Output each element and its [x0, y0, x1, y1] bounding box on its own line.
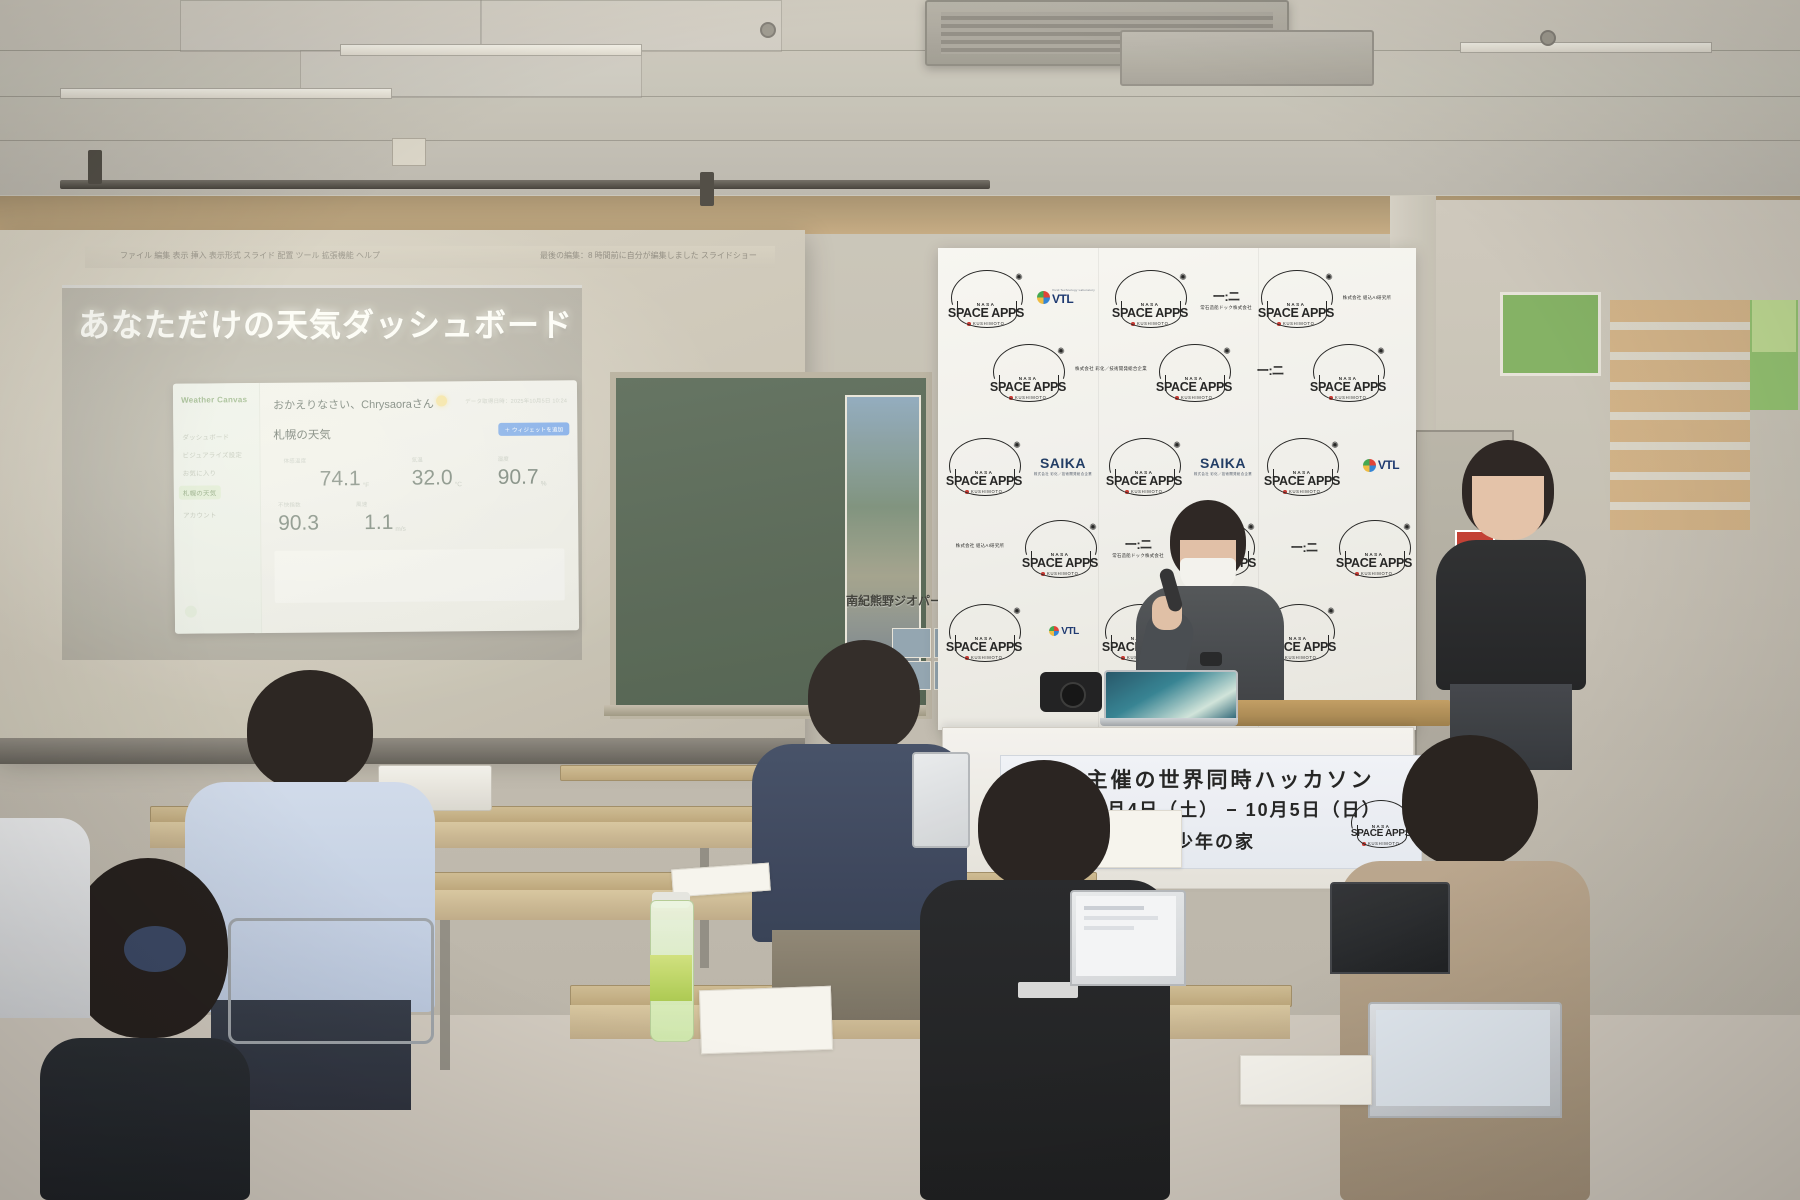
sun-icon — [436, 395, 447, 406]
sponsor-name: VTL — [1052, 292, 1095, 306]
sponsor-logo-tsuneishi: ー:ニ — [1234, 352, 1306, 386]
vtl-blob-icon — [1363, 459, 1376, 472]
sponsor-name: VTL — [1378, 458, 1399, 472]
attendee-head — [808, 640, 920, 752]
metric-value: 74.1 — [320, 468, 361, 489]
space-apps-logo: ✺ NASA SPACE APPS KUSHIMOTO — [1102, 434, 1186, 496]
vtl-blob-icon — [1037, 291, 1050, 304]
metric-card: 体感温度 74.1 °F — [284, 456, 370, 490]
attendee-torso — [40, 1038, 250, 1200]
space-apps-logo: ✺ NASA SPACE APPS KUSHIMOTO — [1332, 516, 1416, 578]
sponsor-logo-kumikomi-ai: 株式会社 組込AI研究所 — [944, 526, 1016, 566]
greeting-text: おかえりなさい、Chrysaoraさん — [273, 395, 434, 412]
sponsor-sub: 株式会社 彩化／技術開発総合企業 — [1194, 471, 1252, 476]
presentation-room-photo: 消火器 ファイル 編集 表示 挿入 表示形式 スライド 配置 ツール 拡張機能 … — [0, 0, 1800, 1200]
sponsor-name: ー:ニ — [1290, 537, 1317, 556]
sidebar-item-visualize[interactable]: ビジュアライズ設定 — [182, 449, 242, 460]
sprinkler-head — [760, 22, 776, 38]
space-apps-logo: ✺ NASA SPACE APPS KUSHIMOTO — [1152, 340, 1236, 402]
notebook-page[interactable] — [699, 986, 833, 1055]
widget-placeholder — [274, 548, 564, 603]
sponsor-name: ー:ニ — [1212, 286, 1239, 305]
air-conditioner-unit — [1120, 30, 1374, 86]
metric-card: 風速 1.1 m/s — [356, 500, 406, 533]
attendee-head — [978, 760, 1110, 890]
space-apps-logo: ✺ NASA SPACE APPS KUSHIMOTO — [942, 434, 1026, 496]
space-apps-logo: ✺ NASA SPACE APPS KUSHIMOTO — [1306, 340, 1390, 402]
sidebar-item-sapporo[interactable]: 札幌の天気 — [179, 485, 221, 499]
dashboard-brand: Weather Canvas — [181, 395, 247, 405]
metric-unit: °C — [455, 481, 462, 488]
vtl-blob-icon — [1049, 626, 1059, 636]
laptop-lid — [1104, 670, 1238, 722]
metric-label: 不快指数 — [278, 500, 321, 508]
laptop-screen-content — [1376, 1010, 1550, 1106]
hoodie-logo — [1018, 982, 1078, 998]
dashboard-sidebar: Weather Canvas ダッシュボード ビジュアライズ設定 お気に入り 札… — [173, 383, 262, 634]
sponsor-logo-vtl: Vivid Technology Laboratory VTL — [1030, 282, 1102, 312]
space-apps-logo: ✺ NASA SPACE APPS KUSHIMOTO — [1254, 266, 1338, 328]
data-timestamp: データ取得日時：2025年10月5日 10:24 — [465, 396, 567, 405]
metric-value: 1.1 — [364, 512, 393, 533]
add-widget-button[interactable]: ＋ ウィジェットを追加 — [499, 422, 570, 436]
sponsor-name: SAIKA — [1040, 455, 1086, 471]
sidebar-item-favorites[interactable]: お気に入り — [183, 467, 217, 477]
sponsor-logo-tsuneishi: ー:ニ 常石造船ドック株式会社 — [1190, 278, 1262, 318]
bottle-label — [650, 955, 692, 1001]
standing-attendee — [1436, 440, 1586, 770]
wall-outlet — [392, 138, 426, 166]
slide-chrome-left-text: ファイル 編集 表示 挿入 表示形式 スライド 配置 ツール 拡張機能 ヘルプ — [120, 250, 380, 261]
wristwatch — [1200, 652, 1222, 666]
metric-card: 湿度 90.7 % — [498, 455, 547, 488]
dashboard-main: おかえりなさい、Chrysaoraさん データ取得日時：2025年10月5日 1… — [259, 380, 579, 633]
space-apps-logo: ✺ NASA SPACE APPS KUSHIMOTO — [1108, 266, 1192, 328]
sponsor-name: 株式会社 組込AI研究所 — [1343, 295, 1392, 301]
metric-label: 風速 — [356, 500, 406, 508]
sponsor-logo-saika: SAIKA 株式会社 彩化／技術開発総合企業 — [1186, 444, 1260, 486]
ceiling — [0, 0, 1800, 205]
attendee-face — [1472, 476, 1544, 540]
sponsor-name: ー:ニ — [1256, 360, 1283, 379]
metric-card: 気温 32.0 °C — [412, 455, 462, 488]
sidebar-avatar[interactable] — [185, 606, 197, 618]
chair[interactable] — [228, 918, 434, 1044]
camera-lens — [1060, 682, 1086, 708]
metric-unit: °F — [363, 482, 370, 489]
metric-value: 90.3 — [278, 512, 319, 533]
attendee-torso — [1436, 540, 1586, 690]
weather-dashboard-mockup: Weather Canvas ダッシュボード ビジュアライズ設定 お気に入り 札… — [173, 380, 579, 634]
metric-value: 32.0 — [412, 467, 453, 488]
metric-label: 気温 — [412, 455, 462, 463]
attendee-laptop[interactable] — [1368, 1002, 1558, 1122]
sponsor-sub: 常石造船ドック株式会社 — [1200, 305, 1252, 311]
metric-value: 90.7 — [498, 467, 539, 488]
rail-bracket — [88, 150, 102, 184]
sponsor-logo-kumikomi-ai: 株式会社 組込AI研究所 — [1334, 278, 1400, 318]
laptop-lid — [1330, 882, 1450, 974]
space-apps-logo: ✺ NASA SPACE APPS KUSHIMOTO — [986, 340, 1070, 402]
attendee-far-left — [0, 818, 90, 1018]
sponsor-name: VTL — [1061, 626, 1078, 637]
attendee-tablet[interactable] — [912, 752, 966, 844]
ceiling-light — [340, 44, 642, 56]
section-title: 札幌の天気 — [273, 426, 331, 443]
sponsor-sub: 株式会社 彩化／技術開発総合企業 — [1075, 366, 1147, 372]
sponsor-logo-vtl: VTL — [1348, 450, 1414, 480]
slide-chrome-right-text: 最後の編集：8 時間前に自分が編集しました スライドショー — [540, 250, 757, 261]
attendee-head — [1402, 735, 1538, 867]
sponsor-logo-saika: SAIKA 株式会社 彩化／技術開発総合企業 — [1026, 444, 1100, 486]
sponsor-logo-text: 株式会社 彩化／技術開発総合企業 — [1070, 352, 1152, 386]
presenter-laptop — [1104, 670, 1234, 726]
space-apps-logo: ✺ NASA SPACE APPS KUSHIMOTO — [944, 266, 1028, 328]
tablet-body — [912, 752, 970, 848]
rail-bracket — [700, 172, 714, 206]
sprinkler-head — [1540, 30, 1556, 46]
ceiling-light — [60, 88, 392, 99]
notebook-page[interactable] — [1240, 1055, 1372, 1105]
metric-label: 湿度 — [498, 455, 547, 463]
wall-green-panel-light — [1752, 300, 1796, 352]
hair-scrunchie — [124, 926, 186, 972]
attendee-laptop[interactable] — [1330, 882, 1446, 978]
attendee-torso — [0, 818, 90, 1018]
sidebar-item-account[interactable]: アカウント — [183, 509, 217, 519]
metric-card: 不快指数 90.3 — [278, 500, 321, 533]
slide-title: あなただけの天気ダッシュボード — [78, 300, 598, 346]
sponsor-name: 株式会社 組込AI研究所 — [956, 543, 1005, 549]
wall-poster-grid — [1610, 300, 1750, 530]
metric-unit: % — [541, 481, 547, 488]
metric-label: 体感温度 — [284, 456, 370, 465]
ceiling-light — [1460, 42, 1712, 53]
sponsor-name: SAIKA — [1200, 455, 1246, 471]
attendee-laptop[interactable] — [1070, 890, 1182, 990]
sponsor-logo-vtl: VTL — [1034, 618, 1094, 644]
space-apps-logo: ✺ NASA SPACE APPS KUSHIMOTO — [1018, 516, 1102, 578]
metric-unit: m/s — [395, 526, 406, 533]
space-apps-logo: ✺ NASA SPACE APPS KUSHIMOTO — [1260, 434, 1344, 496]
sponsor-sub: 株式会社 彩化／技術開発総合企業 — [1034, 471, 1092, 476]
projector-screen-rail — [60, 180, 990, 189]
laptop-base — [1100, 718, 1238, 726]
green-notice-board — [1500, 292, 1601, 376]
sidebar-item-dashboard[interactable]: ダッシュボード — [182, 431, 229, 441]
attendee-head — [247, 670, 373, 790]
table-leg — [440, 920, 450, 1070]
